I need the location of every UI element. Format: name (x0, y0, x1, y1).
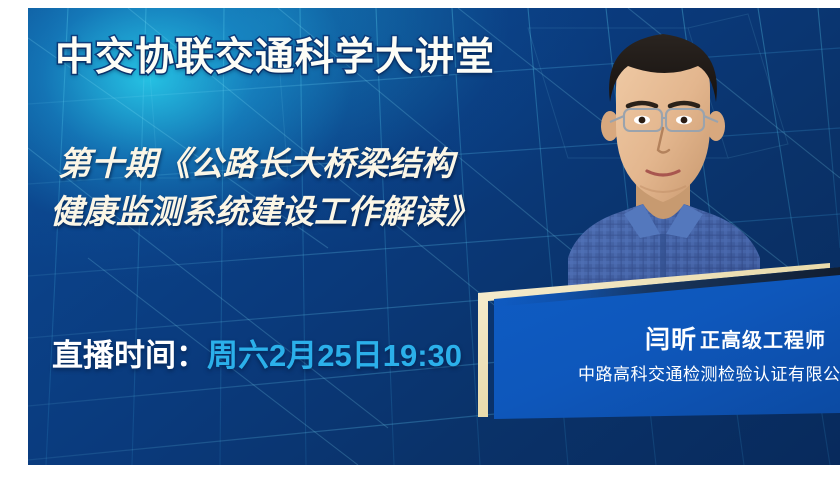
page-title: 中交协联交通科学大讲堂 (55, 26, 495, 82)
live-schedule-value: 周六2月25日19:30 (207, 338, 462, 373)
speaker-name: 闫昕 (645, 320, 697, 356)
speaker-title: 正高级工程师 (700, 324, 826, 353)
episode-subtitle-line1: 第十期《公路长大桥梁结构 (58, 145, 454, 182)
live-schedule-label: 直播时间： (52, 338, 207, 373)
live-schedule: 直播时间：周六2月25日19:30 (52, 330, 462, 375)
episode-subtitle-line2: 健康监测系统建设工作解读》 (50, 188, 479, 236)
live-stream-poster: 中交协联交通科学大讲堂 第十期《公路长大桥梁结构 健康监测系统建设工作解读》 直… (0, 0, 840, 480)
speaker-portrait (548, 8, 778, 294)
speaker-organization: 中路高科交通检测检验认证有限公司 (578, 360, 840, 385)
episode-subtitle: 第十期《公路长大桥梁结构 健康监测系统建设工作解读》 (58, 140, 479, 236)
